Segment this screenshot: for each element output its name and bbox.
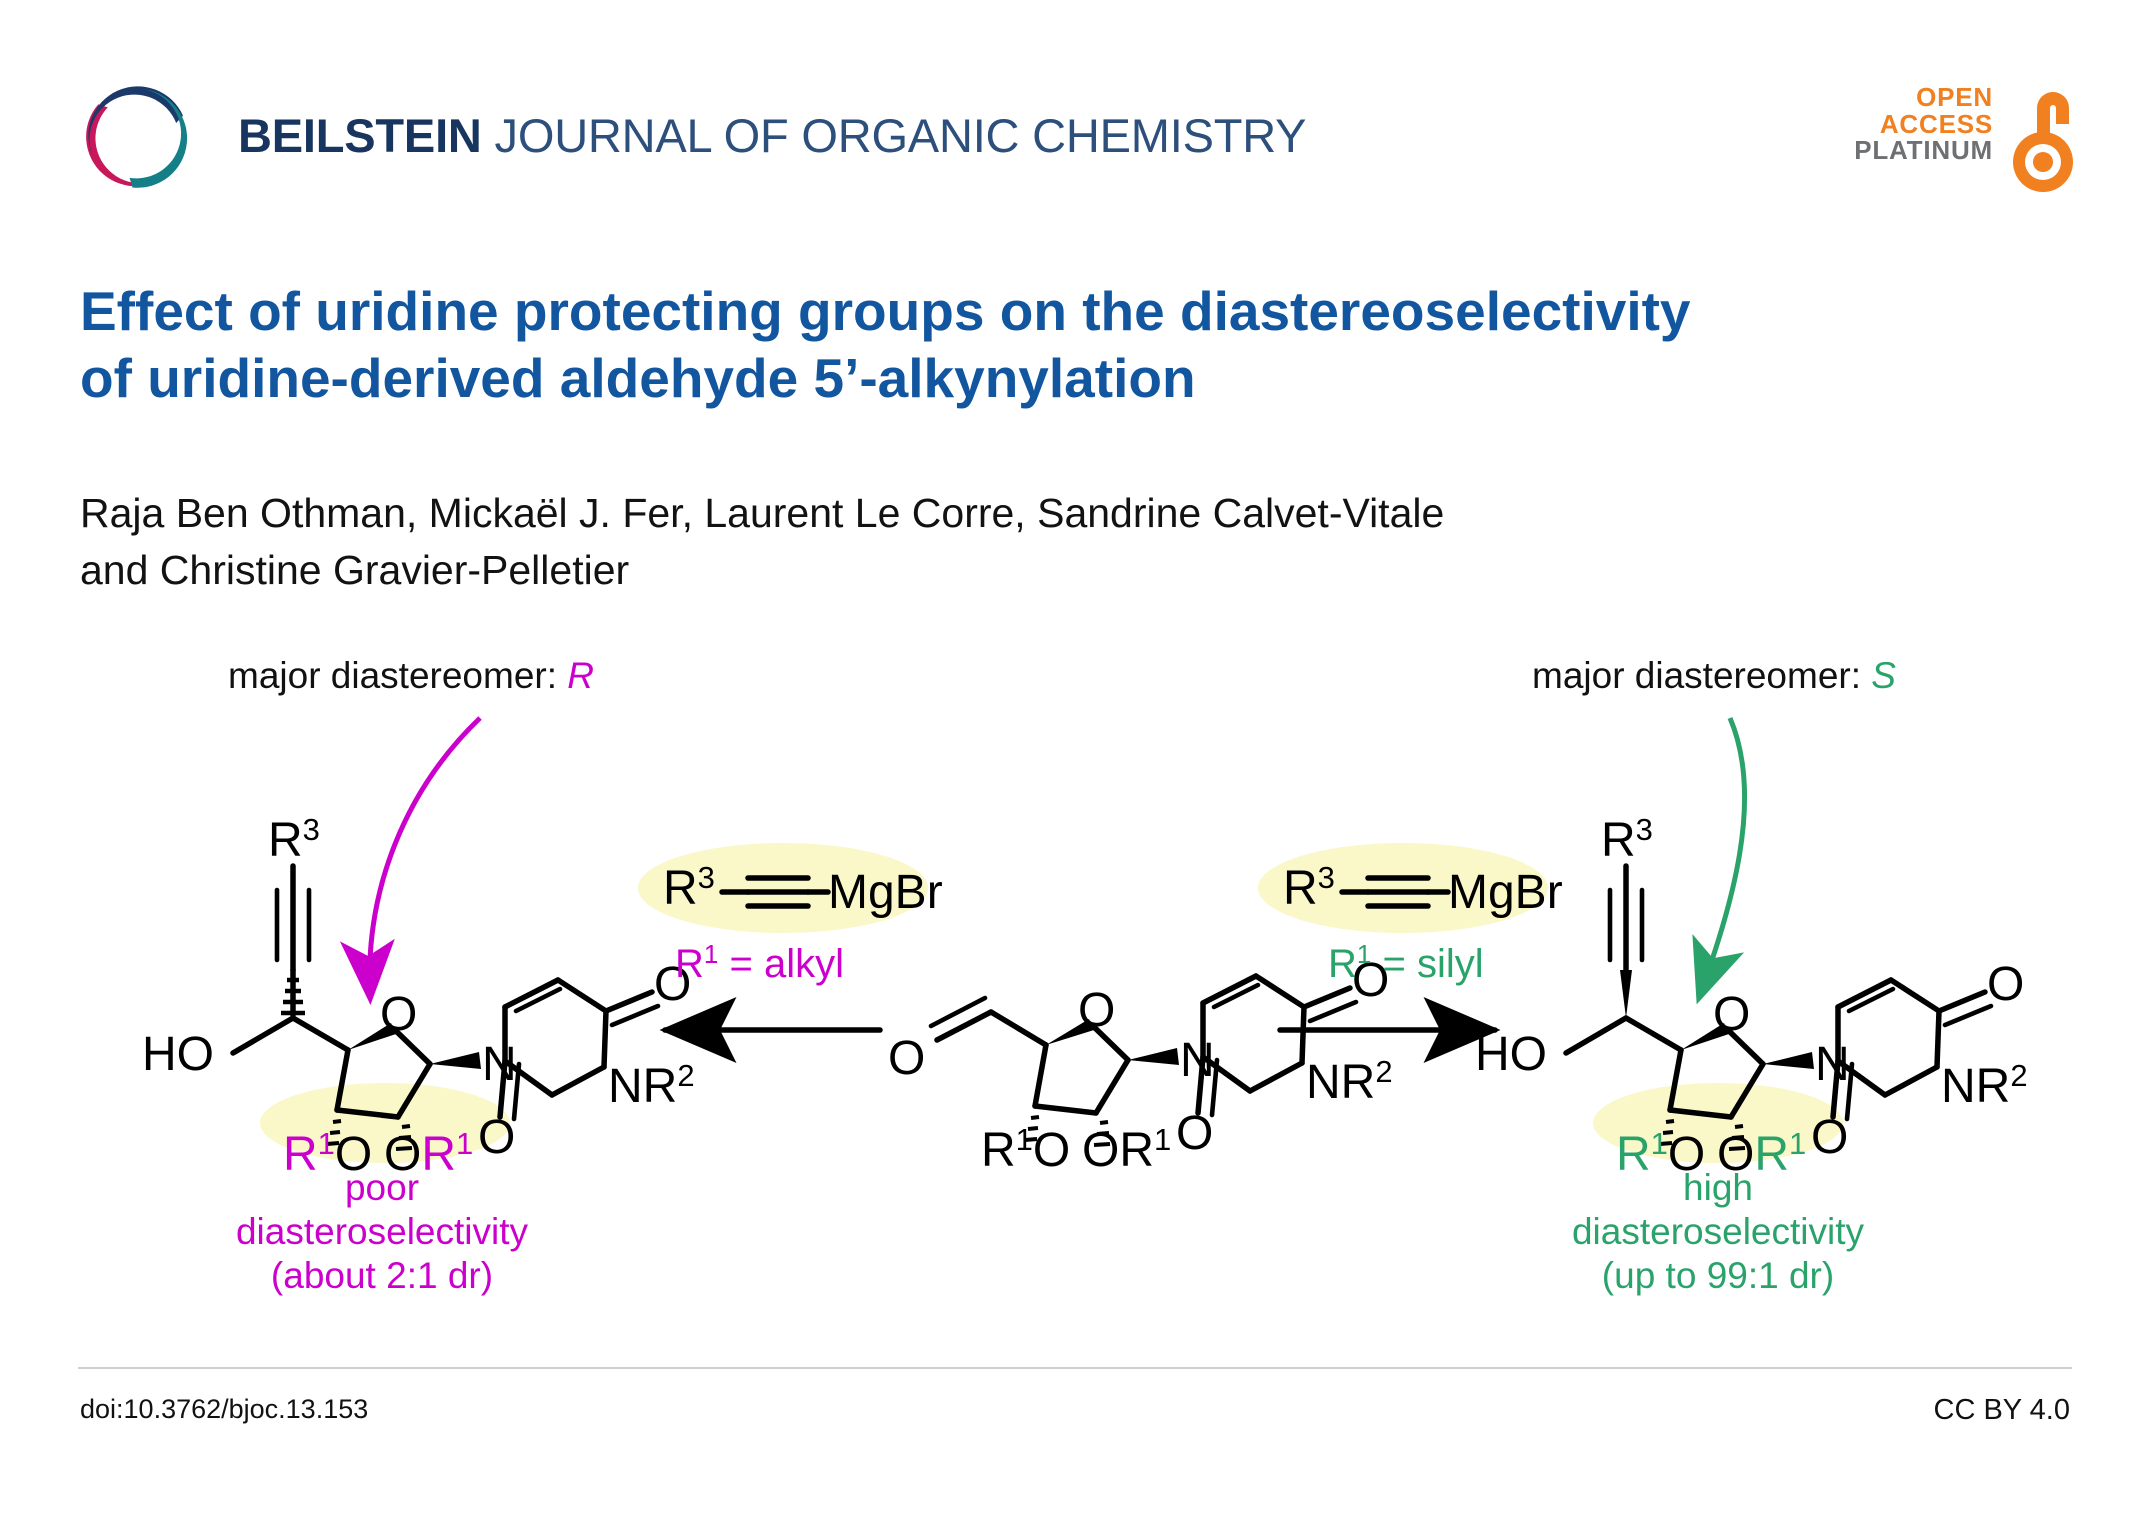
right-solid-wedge <box>1620 970 1632 1018</box>
center-r1o-label: R1O <box>981 1122 1070 1177</box>
center-aldehyde-o-label: O <box>888 1032 925 1085</box>
beilstein-triple-crescent-logo-icon <box>78 78 196 196</box>
article-title-line-2: of uridine-derived aldehyde 5’-alkynylat… <box>80 345 2030 412</box>
right-diastereomer-label: major diastereomer: S <box>1532 655 1896 696</box>
right-r3-label: R3 <box>1601 812 1653 867</box>
center-starting-material-structure: O <box>888 954 1393 1177</box>
center-n-label: N <box>1180 1034 1215 1087</box>
open-access-line-access: ACCESS <box>1854 111 1993 138</box>
footer-divider <box>78 1367 2072 1369</box>
right-nr2-label: NR2 <box>1941 1058 2028 1113</box>
open-access-line-platinum: PLATINUM <box>1854 137 1993 164</box>
right-n-label: N <box>1815 1038 1850 1091</box>
left-o-bottom-label: O <box>478 1111 515 1164</box>
left-r3-label: R3 <box>268 812 320 867</box>
left-condition-label: R1 = alkyl <box>675 939 844 986</box>
author-line-2: and Christine Gravier-Pelletier <box>80 542 2030 599</box>
journal-name-bold: BEILSTEIN <box>238 109 482 162</box>
article-title: Effect of uridine protecting groups on t… <box>80 278 2030 412</box>
left-nr2-label: NR2 <box>608 1058 695 1113</box>
left-glycosidic-wedge <box>430 1052 481 1069</box>
left-ho-label: HO <box>142 1028 214 1081</box>
right-selectivity-caption: high diasteroselectivity (up to 99:1 dr) <box>1572 1167 1865 1296</box>
article-title-line-1: Effect of uridine protecting groups on t… <box>80 278 2030 345</box>
center-glycosidic-wedge <box>1128 1048 1179 1065</box>
left-reagent-mgbr: MgBr <box>828 866 943 919</box>
center-o-bottom-label: O <box>1176 1107 1213 1160</box>
journal-name: BEILSTEIN JOURNAL OF ORGANIC CHEMISTRY <box>238 108 1306 163</box>
right-ho-label: HO <box>1475 1028 1547 1081</box>
reaction-scheme-svg: .bd{stroke:#000;stroke-width:5.5;fill:no… <box>0 640 2150 1340</box>
svg-text:diasteroselectivity: diasteroselectivity <box>236 1211 529 1252</box>
left-selectivity-caption: poor diasteroselectivity (about 2:1 dr) <box>236 1167 529 1296</box>
svg-text:poor: poor <box>345 1167 419 1208</box>
center-or1-label: OR1 <box>1082 1122 1171 1177</box>
open-access-line-open: OPEN <box>1854 84 1993 111</box>
author-line-1: Raja Ben Othman, Mickaël J. Fer, Laurent… <box>80 485 2030 542</box>
left-n-label: N <box>482 1038 517 1091</box>
right-stereo-arrow <box>1700 718 1745 995</box>
left-reagent-group: R3 MgBr R1 = alkyl <box>638 843 943 986</box>
right-glycosidic-wedge <box>1763 1052 1814 1069</box>
reaction-scheme: .bd{stroke:#000;stroke-width:5.5;fill:no… <box>0 640 2150 1340</box>
open-access-badge: OPEN ACCESS PLATINUM <box>1895 78 2085 198</box>
open-access-text: OPEN ACCESS PLATINUM <box>1854 84 1993 164</box>
right-reagent-group: R3 MgBr R1 = silyl <box>1258 843 1563 986</box>
license-text: CC BY 4.0 <box>1934 1394 2070 1427</box>
svg-text:(up to 99:1 dr): (up to 99:1 dr) <box>1602 1255 1834 1296</box>
page-header: BEILSTEIN JOURNAL OF ORGANIC CHEMISTRY O… <box>0 0 2150 200</box>
doi-text: doi:10.3762/bjoc.13.153 <box>80 1394 368 1425</box>
right-o-top-label: O <box>1987 958 2024 1011</box>
journal-name-rest: JOURNAL OF ORGANIC CHEMISTRY <box>482 109 1307 162</box>
svg-text:(about 2:1 dr): (about 2:1 dr) <box>271 1255 493 1296</box>
left-product-structure: R3 HO O N NR2 O O R1O OR1 <box>142 812 695 1181</box>
left-stereo-arrow <box>370 718 480 995</box>
left-ring-o-label: O <box>380 988 417 1041</box>
center-ring-o-label: O <box>1078 984 1115 1037</box>
svg-text:high: high <box>1683 1167 1753 1208</box>
svg-text:diasteroselectivity: diasteroselectivity <box>1572 1211 1865 1252</box>
right-reagent-mgbr: MgBr <box>1448 866 1563 919</box>
right-condition-label: R1 = silyl <box>1328 939 1484 986</box>
center-nr2-label: NR2 <box>1306 1054 1393 1109</box>
left-diastereomer-label: major diastereomer: R <box>228 655 594 696</box>
right-o-bottom-label: O <box>1811 1111 1848 1164</box>
right-ring-o-label: O <box>1713 988 1750 1041</box>
author-list: Raja Ben Othman, Mickaël J. Fer, Laurent… <box>80 485 2030 598</box>
cover-page: BEILSTEIN JOURNAL OF ORGANIC CHEMISTRY O… <box>0 0 2150 1519</box>
open-padlock-icon <box>2001 78 2085 196</box>
